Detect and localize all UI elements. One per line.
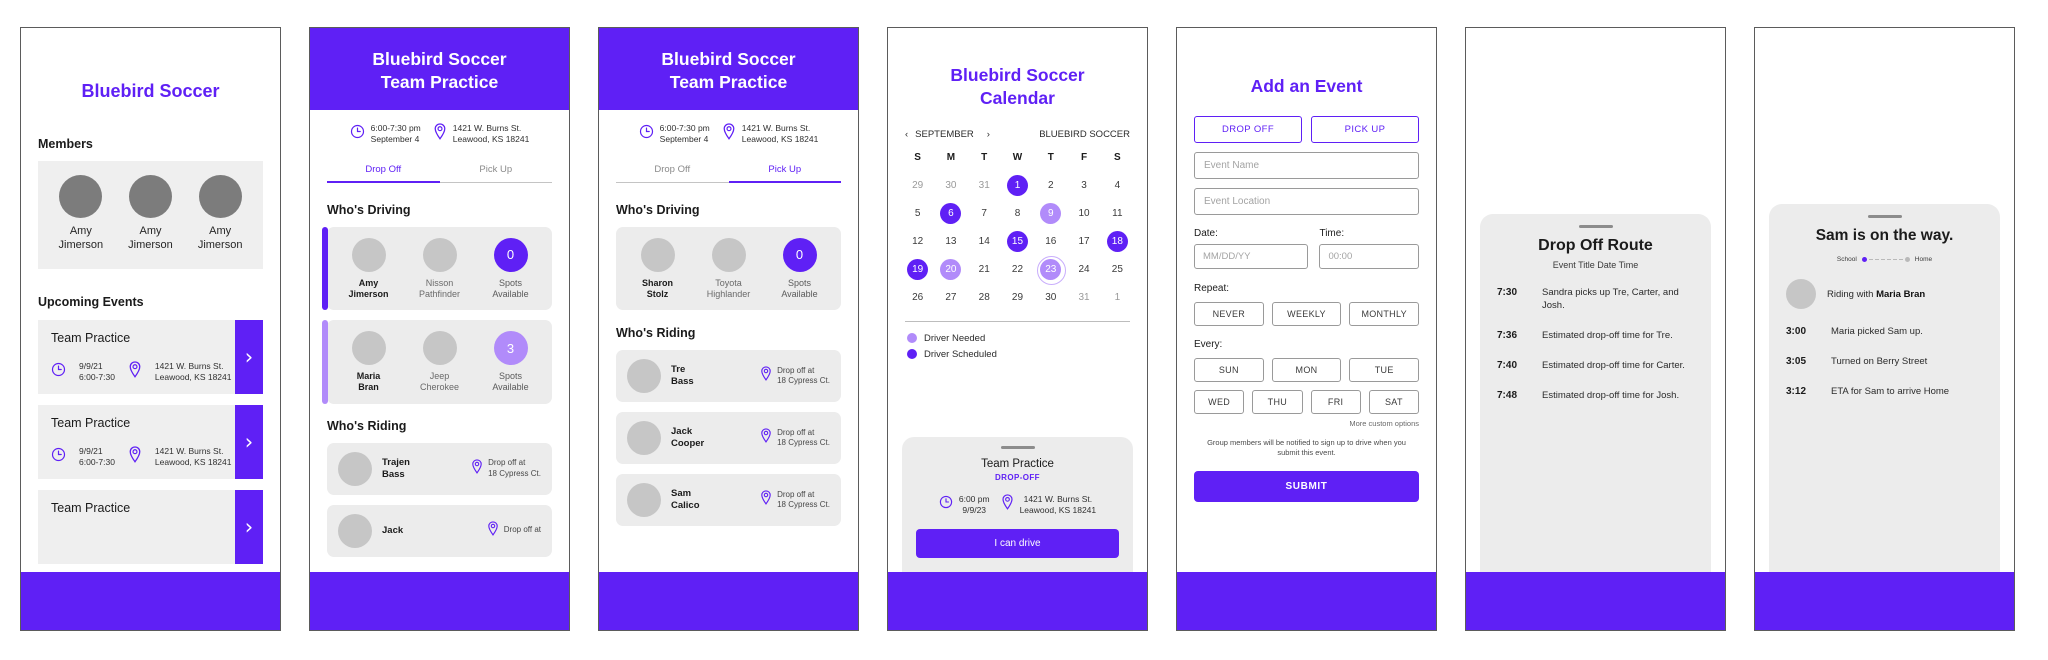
stop-time: 7:48 xyxy=(1497,390,1529,401)
avatar xyxy=(338,514,372,548)
rider-dropoff: Drop off at 18 Cypress Ct. xyxy=(760,428,830,449)
calendar-weekday: T xyxy=(1034,152,1067,163)
driver-person: Sharon Stolz xyxy=(627,238,689,301)
avatar xyxy=(641,238,675,272)
tab-bar: Drop Off Pick Up xyxy=(327,164,552,183)
driver-name: Maria Bran xyxy=(338,371,400,394)
calendar-day[interactable]: 8 xyxy=(1001,203,1034,224)
tab-pick-up[interactable]: Pick Up xyxy=(440,164,553,183)
legend-item: Driver Scheduled xyxy=(907,349,1128,360)
driver-spots: 3 Spots Available xyxy=(480,331,542,394)
calendar-day[interactable]: 30 xyxy=(934,175,967,196)
rider-name: Trajen Bass xyxy=(382,457,461,481)
event-time: 6:00-7:30 pm September 4 xyxy=(639,123,710,145)
driver-card[interactable]: Maria Bran Jeep Cherokee 3 Spots Availab… xyxy=(327,320,552,404)
day-sat-button[interactable]: SAT xyxy=(1369,390,1419,414)
date-input[interactable]: MM/DD/YY xyxy=(1194,244,1308,269)
calendar-day[interactable]: 24 xyxy=(1067,259,1100,280)
day-tue-button[interactable]: TUE xyxy=(1349,358,1419,382)
sheet-event-meta: 6:00 pm 9/9/23 1421 W. Burns St. Leawood… xyxy=(916,494,1119,516)
driver-person: Amy Jimerson xyxy=(338,238,400,301)
drop-off-button[interactable]: DROP OFF xyxy=(1194,116,1302,143)
rider-row[interactable]: Sam Calico Drop off at 18 Cypress Ct. xyxy=(616,474,841,526)
car-icon xyxy=(423,238,457,272)
date-label: Date: xyxy=(1194,228,1308,239)
calendar-day[interactable]: 27 xyxy=(934,287,967,308)
rider-name: Jack xyxy=(382,525,477,537)
clock-icon xyxy=(939,495,953,514)
day-sun-button[interactable]: SUN xyxy=(1194,358,1264,382)
clock-icon xyxy=(51,447,66,467)
calendar-day[interactable]: 31 xyxy=(1067,287,1100,308)
avatar xyxy=(352,331,386,365)
repeat-weekly-button[interactable]: WEEKLY xyxy=(1272,302,1342,326)
clock-icon xyxy=(639,124,654,144)
avatar xyxy=(627,483,661,517)
calendar-day[interactable]: 1 xyxy=(1101,287,1134,308)
rider-name: Tre Bass xyxy=(671,364,750,388)
stop-text: Estimated drop-off time for Josh. xyxy=(1542,390,1679,403)
route-sheet: Drop Off Route Event Title Date Time 7:3… xyxy=(1480,214,1711,572)
location-pin-icon xyxy=(128,446,142,468)
stop-text: Estimated drop-off time for Carter. xyxy=(1542,360,1685,373)
event-address-text: 1421 W. Burns St. Leawood, KS 18241 xyxy=(453,123,530,145)
page-title: Bluebird Soccer Team Practice xyxy=(310,28,569,110)
time-label: Time: xyxy=(1319,228,1419,239)
home-indicator-bar xyxy=(21,572,280,630)
whos-driving-label: Who's Driving xyxy=(616,203,841,217)
sheet-grabber-handle[interactable] xyxy=(1579,225,1613,228)
driver-card[interactable]: Amy Jimerson Nisson Pathfinder 0 Spots A… xyxy=(327,227,552,311)
event-card[interactable]: Team Practice 9/9/21 6:00-7:30 1421 W. B… xyxy=(38,405,263,479)
location-pin-icon xyxy=(487,521,499,541)
spots-label: Spots Available xyxy=(769,278,831,301)
stop-text: Sandra picks up Tre, Carter, and Josh. xyxy=(1542,287,1694,313)
submit-note: Group members will be notified to sign u… xyxy=(1196,438,1417,459)
screen-ride-tracking: Sam is on the way. School Home Riding wi… xyxy=(1754,27,2015,631)
page-title: Add an Event xyxy=(1177,75,1436,98)
chevron-right-icon[interactable]: › xyxy=(235,490,263,564)
calendar-day[interactable]: 23 xyxy=(1034,259,1067,280)
event-type-segmented-control: DROP OFF PICK UP xyxy=(1194,116,1419,143)
spots-label: Spots Available xyxy=(480,371,542,394)
home-indicator-bar xyxy=(1177,572,1436,630)
screen-drop-off-route: Drop Off Route Event Title Date Time 7:3… xyxy=(1465,27,1726,631)
calendar-day[interactable]: 6 xyxy=(934,203,967,224)
screen-event-dropoff: Bluebird Soccer Team Practice 6:00-7:30 … xyxy=(309,27,570,631)
calendar-day[interactable]: 18 xyxy=(1101,231,1134,252)
location-pin-icon xyxy=(760,490,772,510)
page-title: Drop Off Route xyxy=(1497,237,1694,255)
update-row: 3:12 ETA for Sam to arrive Home xyxy=(1786,386,1983,399)
avatar xyxy=(129,175,172,218)
page-title: Bluebird Soccer Calendar xyxy=(888,64,1147,110)
event-card[interactable]: Team Practice › xyxy=(38,490,263,564)
legend-item: Driver Needed xyxy=(907,333,1128,344)
avatar xyxy=(59,175,102,218)
tab-drop-off[interactable]: Drop Off xyxy=(616,164,729,183)
driver-vehicle: Toyota Highlander xyxy=(698,238,760,301)
driver-scheduled-dot-icon xyxy=(907,349,917,359)
car-icon xyxy=(712,238,746,272)
sheet-grabber-handle[interactable] xyxy=(1868,215,1902,218)
sheet-address-text: 1421 W. Burns St. Leawood, KS 18241 xyxy=(1020,494,1097,516)
calendar-weekday: M xyxy=(934,152,967,163)
mockup-board: Bluebird Soccer Members Amy Jimerson Amy… xyxy=(0,0,2048,660)
rider-dropoff-text: Drop off at 18 Cypress Ct. xyxy=(777,366,830,387)
vehicle-name: Toyota Highlander xyxy=(698,278,760,301)
update-time: 3:00 xyxy=(1786,326,1818,337)
day-wed-button[interactable]: WED xyxy=(1194,390,1244,414)
date-time-row: Date: MM/DD/YY Time: 00:00 xyxy=(1194,228,1419,269)
home-indicator-bar xyxy=(1466,572,1725,630)
calendar-day[interactable]: 29 xyxy=(901,175,934,196)
screen-event-pickup: Bluebird Soccer Team Practice 6:00-7:30 … xyxy=(598,27,859,631)
rider-dropoff-text: Drop off at 18 Cypress Ct. xyxy=(777,428,830,449)
event-name-input[interactable]: Event Name xyxy=(1194,152,1419,179)
location-pin-icon xyxy=(433,123,447,145)
rider-dropoff: Drop off at 18 Cypress Ct. xyxy=(760,490,830,511)
update-time: 3:05 xyxy=(1786,356,1818,367)
location-pin-icon xyxy=(760,428,772,448)
driver-vehicle: Nisson Pathfinder xyxy=(409,238,471,301)
rider-name: Jack Cooper xyxy=(671,426,750,450)
sheet-time: 6:00 pm 9/9/23 xyxy=(939,494,990,516)
update-row: 3:00 Maria picked Sam up. xyxy=(1786,326,1983,339)
calendar-day[interactable]: 30 xyxy=(1034,287,1067,308)
calendar-weekday: S xyxy=(1101,152,1134,163)
calendar-nav: ‹ SEPTEMBER › BLUEBIRD SOCCER xyxy=(905,129,1130,140)
screen-calendar: Bluebird Soccer Calendar ‹ SEPTEMBER › B… xyxy=(887,27,1148,631)
trip-progress: School Home xyxy=(1786,256,1983,263)
chevron-right-icon[interactable]: › xyxy=(235,405,263,479)
member-item[interactable]: Amy Jimerson xyxy=(47,175,115,253)
weekday-row-2: WED THU FRI SAT xyxy=(1194,390,1419,414)
calendar-day[interactable]: 25 xyxy=(1101,259,1134,280)
vehicle-name: Nisson Pathfinder xyxy=(409,278,471,301)
whos-riding-label: Who's Riding xyxy=(327,419,552,433)
update-text: ETA for Sam to arrive Home xyxy=(1831,386,1949,399)
event-address-text: 1421 W. Burns St. Leawood, KS 18241 xyxy=(742,123,819,145)
stop-time: 7:40 xyxy=(1497,360,1529,371)
page-title: Sam is on the way. xyxy=(1786,227,1983,245)
home-indicator-bar xyxy=(310,572,569,630)
repeat-options: NEVER WEEKLY MONTHLY xyxy=(1194,302,1419,326)
location-pin-icon xyxy=(1001,494,1014,515)
calendar-day-grid: 2930311234567891011121314151617181920212… xyxy=(901,175,1134,308)
clock-icon xyxy=(350,124,365,144)
calendar-day[interactable]: 26 xyxy=(901,287,934,308)
calendar-weekday: S xyxy=(901,152,934,163)
divider xyxy=(905,321,1130,322)
avatar xyxy=(627,421,661,455)
calendar-day[interactable]: 31 xyxy=(968,175,1001,196)
member-name: Amy Jimerson xyxy=(47,225,115,253)
tab-bar: Drop Off Pick Up xyxy=(616,164,841,183)
rider-dropoff: Drop off at 18 Cypress Ct. xyxy=(471,458,541,479)
calendar-day[interactable]: 13 xyxy=(934,231,967,252)
day-fri-button[interactable]: FRI xyxy=(1311,390,1361,414)
calendar-day[interactable]: 9 xyxy=(1034,203,1067,224)
rider-dropoff-text: Drop off at xyxy=(504,525,541,535)
member-item[interactable]: Amy Jimerson xyxy=(186,175,254,253)
event-info: 6:00-7:30 pm September 4 1421 W. Burns S… xyxy=(310,110,569,153)
current-month: SEPTEMBER xyxy=(915,129,974,140)
rider-dropoff-text: Drop off at 18 Cypress Ct. xyxy=(488,458,541,479)
calendar-weekday: T xyxy=(968,152,1001,163)
spots-count: 0 xyxy=(783,238,817,272)
calendar-day[interactable]: 11 xyxy=(1101,203,1134,224)
rider-dropoff-text: Drop off at 18 Cypress Ct. xyxy=(777,490,830,511)
sheet-grabber-handle[interactable] xyxy=(1001,446,1035,449)
calendar-day[interactable]: 20 xyxy=(934,259,967,280)
update-row: 3:05 Turned on Berry Street xyxy=(1786,356,1983,369)
event-name: Team Practice xyxy=(51,501,250,515)
screen-team-home: Bluebird Soccer Members Amy Jimerson Amy… xyxy=(20,27,281,631)
rider-row[interactable]: Tre Bass Drop off at 18 Cypress Ct. xyxy=(616,350,841,402)
driver-person: Maria Bran xyxy=(338,331,400,394)
calendar-day[interactable]: 19 xyxy=(901,259,934,280)
tracking-sheet: Sam is on the way. School Home Riding wi… xyxy=(1769,204,2000,572)
update-time: 3:12 xyxy=(1786,386,1818,397)
event-datetime: 9/9/21 6:00-7:30 xyxy=(79,361,115,383)
calendar-day[interactable]: 21 xyxy=(968,259,1001,280)
event-location: 1421 W. Burns St. Leawood, KS 18241 xyxy=(433,123,530,145)
calendar-day[interactable]: 15 xyxy=(1001,231,1034,252)
calendar-day[interactable]: 29 xyxy=(1001,287,1034,308)
calendar-team-name: BLUEBIRD SOCCER xyxy=(1039,129,1130,140)
event-time-text: 6:00-7:30 pm September 4 xyxy=(371,123,421,145)
origin-label: School xyxy=(1837,256,1857,263)
day-mon-button[interactable]: MON xyxy=(1272,358,1342,382)
repeat-never-button[interactable]: NEVER xyxy=(1194,302,1264,326)
driver-name: Amy Jimerson xyxy=(338,278,400,301)
riding-with-text: Riding with Maria Bran xyxy=(1827,289,1925,300)
tab-pick-up[interactable]: Pick Up xyxy=(729,164,842,183)
stop-time: 7:36 xyxy=(1497,330,1529,341)
calendar-day[interactable]: 4 xyxy=(1101,175,1134,196)
prev-month-icon[interactable]: ‹ xyxy=(905,129,908,140)
screen-add-event: Add an Event DROP OFF PICK UP Event Name… xyxy=(1176,27,1437,631)
update-text: Turned on Berry Street xyxy=(1831,356,1927,369)
submit-button[interactable]: SUBMIT xyxy=(1194,471,1419,502)
progress-track-icon xyxy=(1862,257,1910,262)
sheet-time-text: 6:00 pm 9/9/23 xyxy=(959,494,990,516)
driver-spots: 0 Spots Available xyxy=(480,238,542,301)
rider-name: Sam Calico xyxy=(671,488,750,512)
stop-text: Estimated drop-off time for Tre. xyxy=(1542,330,1673,343)
calendar-weekday-header: SMTWTFS xyxy=(901,152,1134,163)
avatar xyxy=(352,238,386,272)
rider-dropoff: Drop off at 18 Cypress Ct. xyxy=(760,366,830,387)
avatar xyxy=(338,452,372,486)
riding-with-prefix: Riding with xyxy=(1827,289,1876,300)
driver-vehicle: Jeep Cherokee xyxy=(409,331,471,394)
rider-row[interactable]: Trajen Bass Drop off at 18 Cypress Ct. xyxy=(327,443,552,495)
riding-with-row: Riding with Maria Bran xyxy=(1786,279,1983,309)
stop-time: 7:30 xyxy=(1497,287,1529,298)
location-pin-icon xyxy=(128,361,142,383)
chevron-right-icon[interactable]: › xyxy=(235,320,263,394)
repeat-label: Repeat: xyxy=(1194,283,1419,294)
event-meta: 9/9/21 6:00-7:30 1421 W. Burns St. Leawo… xyxy=(51,446,250,468)
update-text: Maria picked Sam up. xyxy=(1831,326,1923,339)
event-meta: 9/9/21 6:00-7:30 1421 W. Burns St. Leawo… xyxy=(51,361,250,383)
upcoming-events-label: Upcoming Events xyxy=(38,295,263,309)
rider-row[interactable]: Jack Drop off at xyxy=(327,505,552,557)
event-location-input[interactable]: Event Location xyxy=(1194,188,1419,215)
event-location: 1421 W. Burns St. Leawood, KS 18241 xyxy=(722,123,819,145)
rider-dropoff: Drop off at xyxy=(487,521,541,541)
i-can-drive-button[interactable]: I can drive xyxy=(916,529,1119,558)
spots-count: 3 xyxy=(494,331,528,365)
route-stop: 7:30 Sandra picks up Tre, Carter, and Jo… xyxy=(1497,287,1694,313)
home-indicator-bar xyxy=(888,572,1147,630)
route-subtitle: Event Title Date Time xyxy=(1497,260,1694,270)
event-datetime: 9/9/21 6:00-7:30 xyxy=(79,446,115,468)
calendar-weekday: W xyxy=(1001,152,1034,163)
event-address: 1421 W. Burns St. Leawood, KS 18241 xyxy=(155,361,232,383)
driver-spots: 0 Spots Available xyxy=(769,238,831,301)
spots-count: 0 xyxy=(494,238,528,272)
page-title: Bluebird Soccer xyxy=(38,80,263,103)
sheet-location: 1421 W. Burns St. Leawood, KS 18241 xyxy=(1001,494,1097,516)
legend-label: Driver Scheduled xyxy=(924,349,997,360)
event-name: Team Practice xyxy=(51,331,250,345)
route-stop: 7:40 Estimated drop-off time for Carter. xyxy=(1497,360,1694,373)
route-stop: 7:48 Estimated drop-off time for Josh. xyxy=(1497,390,1694,403)
destination-label: Home xyxy=(1915,256,1932,263)
legend-label: Driver Needed xyxy=(924,333,985,344)
car-icon xyxy=(423,331,457,365)
whos-driving-label: Who's Driving xyxy=(327,203,552,217)
tab-drop-off[interactable]: Drop Off xyxy=(327,164,440,183)
calendar-day[interactable]: 2 xyxy=(1034,175,1067,196)
calendar-day[interactable]: 10 xyxy=(1067,203,1100,224)
calendar-weekday: F xyxy=(1067,152,1100,163)
pick-up-button[interactable]: PICK UP xyxy=(1311,116,1419,143)
route-stop: 7:36 Estimated drop-off time for Tre. xyxy=(1497,330,1694,343)
event-name: Team Practice xyxy=(51,416,250,430)
calendar-day[interactable]: 14 xyxy=(968,231,1001,252)
event-info: 6:00-7:30 pm September 4 1421 W. Burns S… xyxy=(599,110,858,153)
driver-name: Maria Bran xyxy=(1876,289,1925,300)
event-address: 1421 W. Burns St. Leawood, KS 18241 xyxy=(155,446,232,468)
calendar-day[interactable]: 17 xyxy=(1067,231,1100,252)
page-title: Bluebird Soccer Team Practice xyxy=(599,28,858,110)
location-pin-icon xyxy=(722,123,736,145)
calendar-day[interactable]: 1 xyxy=(1001,175,1034,196)
members-list: Amy Jimerson Amy Jimerson Amy Jimerson xyxy=(38,161,263,269)
home-indicator-bar xyxy=(599,572,858,630)
time-input[interactable]: 00:00 xyxy=(1319,244,1419,269)
member-name: Amy Jimerson xyxy=(186,225,254,253)
calendar-day[interactable]: 3 xyxy=(1067,175,1100,196)
calendar-day[interactable]: 12 xyxy=(901,231,934,252)
event-time-text: 6:00-7:30 pm September 4 xyxy=(660,123,710,145)
vehicle-name: Jeep Cherokee xyxy=(409,371,471,394)
weekday-row-1: SUN MON TUE xyxy=(1194,358,1419,382)
spots-label: Spots Available xyxy=(480,278,542,301)
next-month-icon[interactable]: › xyxy=(987,129,990,140)
location-pin-icon xyxy=(471,459,483,479)
driver-name: Sharon Stolz xyxy=(627,278,689,301)
more-custom-options-link[interactable]: More custom options xyxy=(1194,419,1419,428)
event-bottom-sheet: Team Practice DROP-OFF 6:00 pm 9/9/23 14… xyxy=(902,437,1133,572)
clock-icon xyxy=(51,362,66,382)
member-name: Amy Jimerson xyxy=(116,225,184,253)
calendar-day[interactable]: 22 xyxy=(1001,259,1034,280)
every-label: Every: xyxy=(1194,339,1419,350)
calendar-day[interactable]: 5 xyxy=(901,203,934,224)
rider-row[interactable]: Jack Cooper Drop off at 18 Cypress Ct. xyxy=(616,412,841,464)
whos-riding-label: Who's Riding xyxy=(616,326,841,340)
members-label: Members xyxy=(38,137,263,151)
avatar xyxy=(1786,279,1816,309)
driver-card[interactable]: Sharon Stolz Toyota Highlander 0 Spots A… xyxy=(616,227,841,311)
member-item[interactable]: Amy Jimerson xyxy=(116,175,184,253)
calendar-day[interactable]: 7 xyxy=(968,203,1001,224)
calendar-day[interactable]: 16 xyxy=(1034,231,1067,252)
sheet-event-type: DROP-OFF xyxy=(916,473,1119,482)
day-thu-button[interactable]: THU xyxy=(1252,390,1302,414)
event-card[interactable]: Team Practice 9/9/21 6:00-7:30 1421 W. B… xyxy=(38,320,263,394)
driver-needed-dot-icon xyxy=(907,333,917,343)
home-indicator-bar xyxy=(1755,572,2014,630)
calendar-legend: Driver Needed Driver Scheduled xyxy=(907,333,1128,360)
repeat-monthly-button[interactable]: MONTHLY xyxy=(1349,302,1419,326)
calendar-day[interactable]: 28 xyxy=(968,287,1001,308)
event-time: 6:00-7:30 pm September 4 xyxy=(350,123,421,145)
sheet-event-title: Team Practice xyxy=(916,458,1119,470)
avatar xyxy=(199,175,242,218)
avatar xyxy=(627,359,661,393)
location-pin-icon xyxy=(760,366,772,386)
